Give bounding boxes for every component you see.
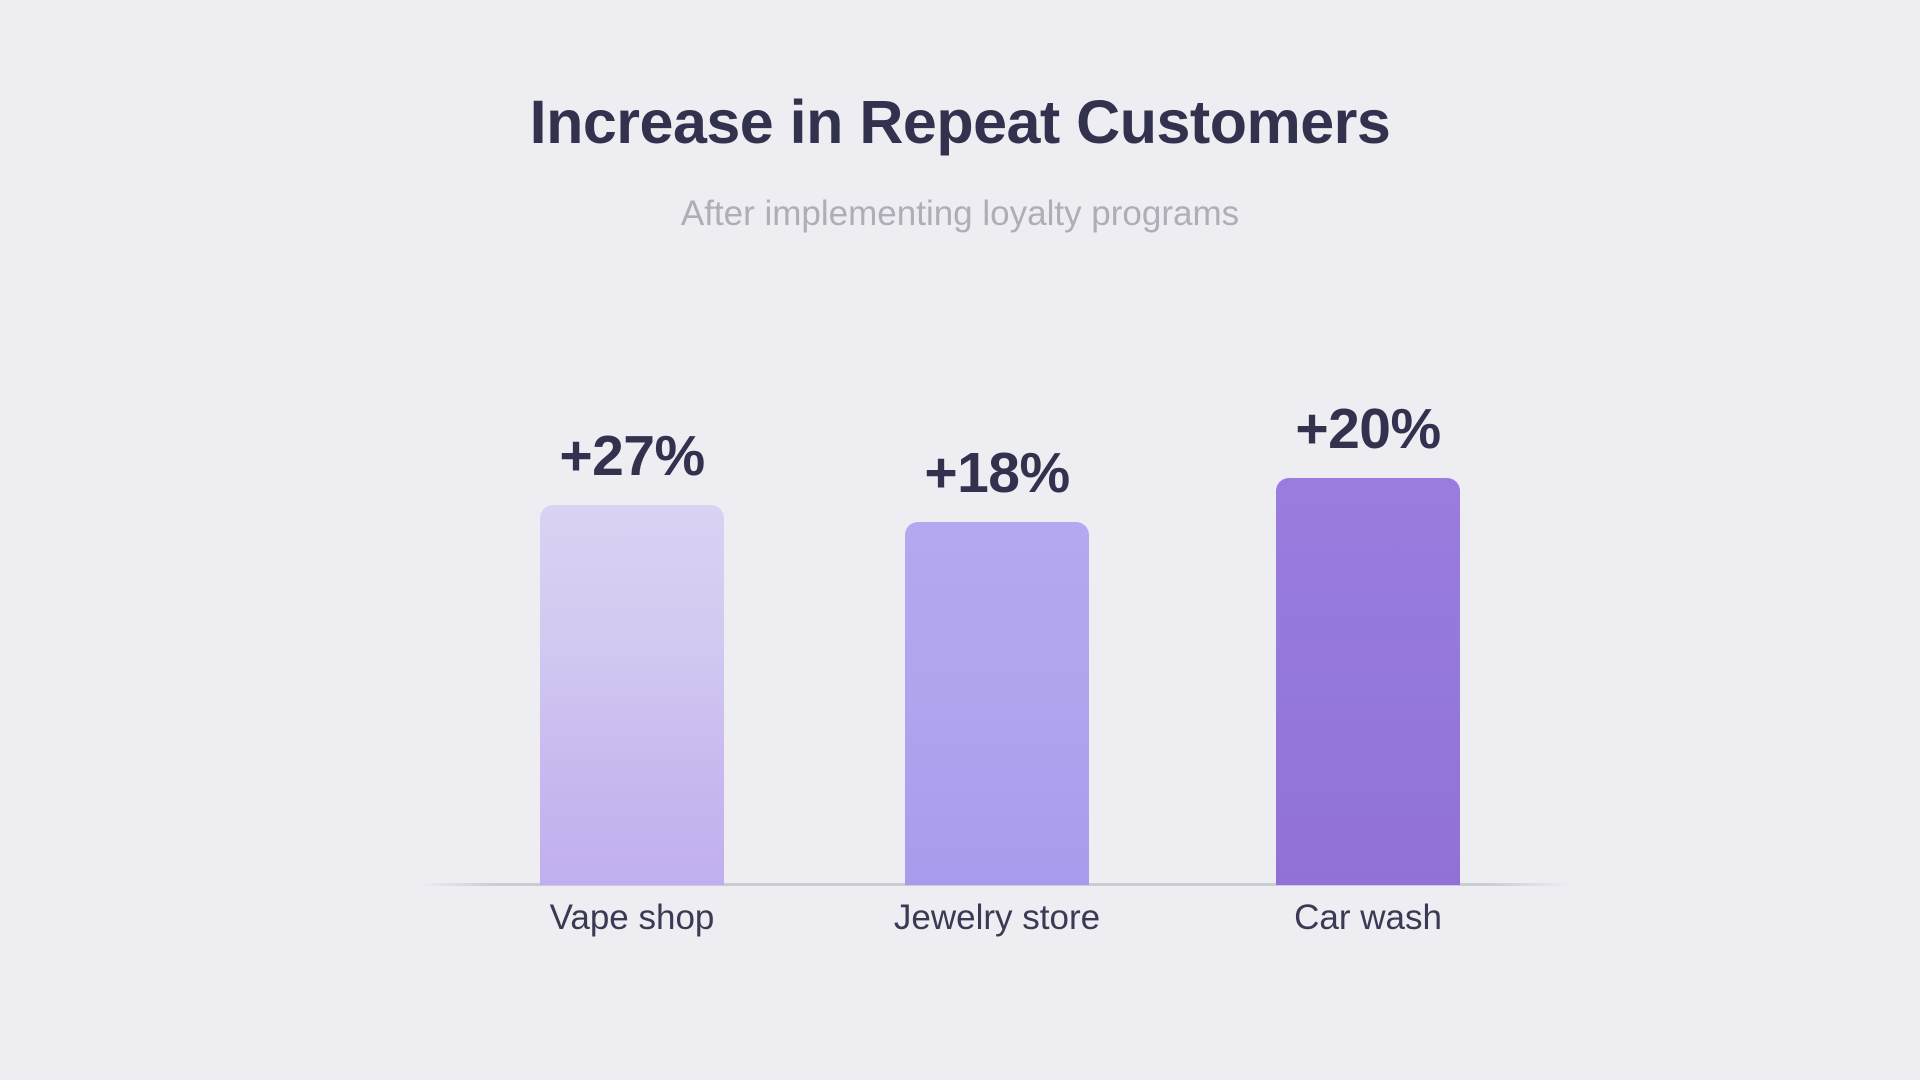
category-axis-labels: Vape shop Jewelry store Car wash [418, 900, 1570, 960]
chart-canvas: Increase in Repeat Customers After imple… [0, 0, 1920, 1080]
bar-jewelry-store[interactable] [905, 522, 1089, 885]
bar-value-label-vape-shop: +27% [540, 428, 724, 485]
bar-value-label-car-wash: +20% [1276, 401, 1460, 458]
category-label-jewelry-store: Jewelry store [865, 900, 1129, 935]
bar-value-label-jewelry-store: +18% [905, 445, 1089, 502]
plot-area: +27% +18% +20% [418, 300, 1570, 900]
chart-subtitle: After implementing loyalty programs [0, 196, 1920, 231]
category-label-car-wash: Car wash [1236, 900, 1500, 935]
bar-vape-shop[interactable] [540, 505, 724, 885]
chart-title: Increase in Repeat Customers [0, 92, 1920, 153]
category-label-vape-shop: Vape shop [500, 900, 764, 935]
bar-car-wash[interactable] [1276, 478, 1460, 885]
